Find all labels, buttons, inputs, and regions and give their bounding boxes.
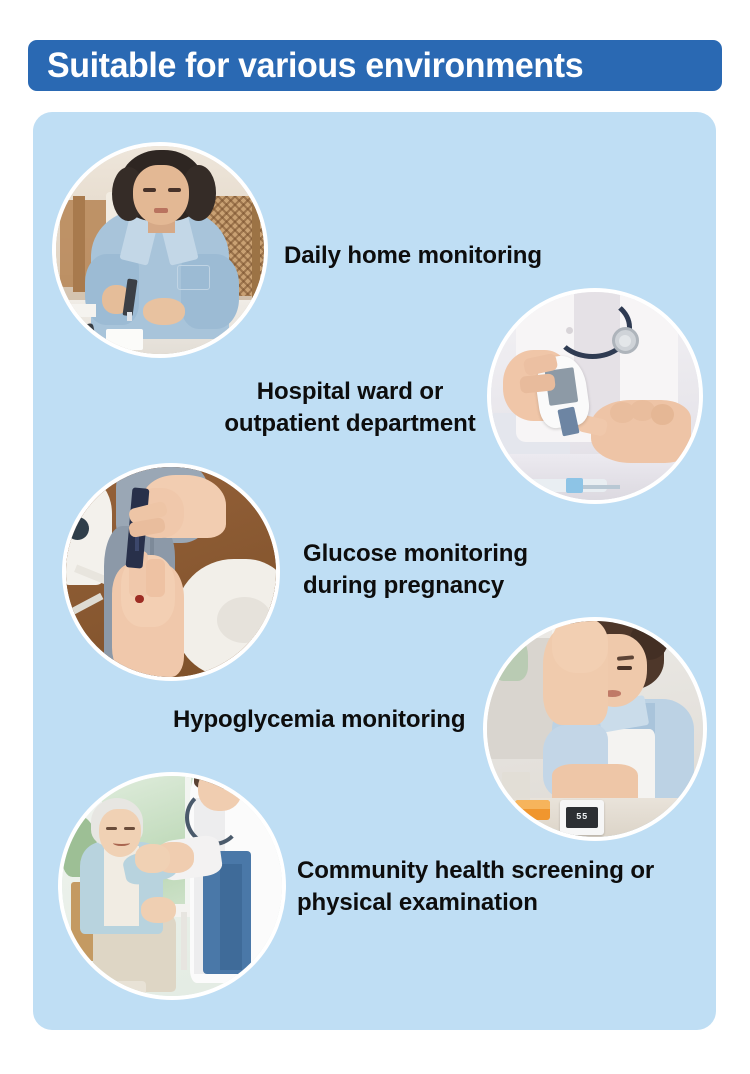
photo-glucose-monitoring-pregnancy <box>62 463 280 681</box>
photo-community-health-screening <box>58 772 286 1000</box>
photo-hypoglycemia-monitoring: 55 <box>483 617 707 841</box>
page-title-bar: Suitable for various environments <box>28 40 722 91</box>
photo-daily-home-monitoring <box>52 142 268 358</box>
photo-hospital-ward-outpatient <box>487 288 703 504</box>
glucose-meter-display: 55 <box>566 807 598 829</box>
caption-hypoglycemia-monitoring: Hypoglycemia monitoring <box>173 704 465 736</box>
photo-scene-home <box>56 146 264 354</box>
caption-community-health-screening: Community health screening or physical e… <box>297 855 654 919</box>
photo-scene-pregnancy <box>66 467 276 677</box>
caption-hospital-ward-outpatient: Hospital ward or outpatient department <box>210 376 490 440</box>
page-title: Suitable for various environments <box>47 48 583 83</box>
caption-glucose-monitoring-pregnancy: Glucose monitoring during pregnancy <box>303 538 528 602</box>
caption-daily-home-monitoring: Daily home monitoring <box>284 240 542 272</box>
photo-scene-screening <box>62 776 282 996</box>
poster-page: Suitable for various environments <box>0 0 750 1074</box>
photo-scene-hospital <box>491 292 699 500</box>
photo-scene-hypoglycemia: 55 <box>487 621 703 837</box>
glucose-meter-value: 55 <box>576 813 588 822</box>
